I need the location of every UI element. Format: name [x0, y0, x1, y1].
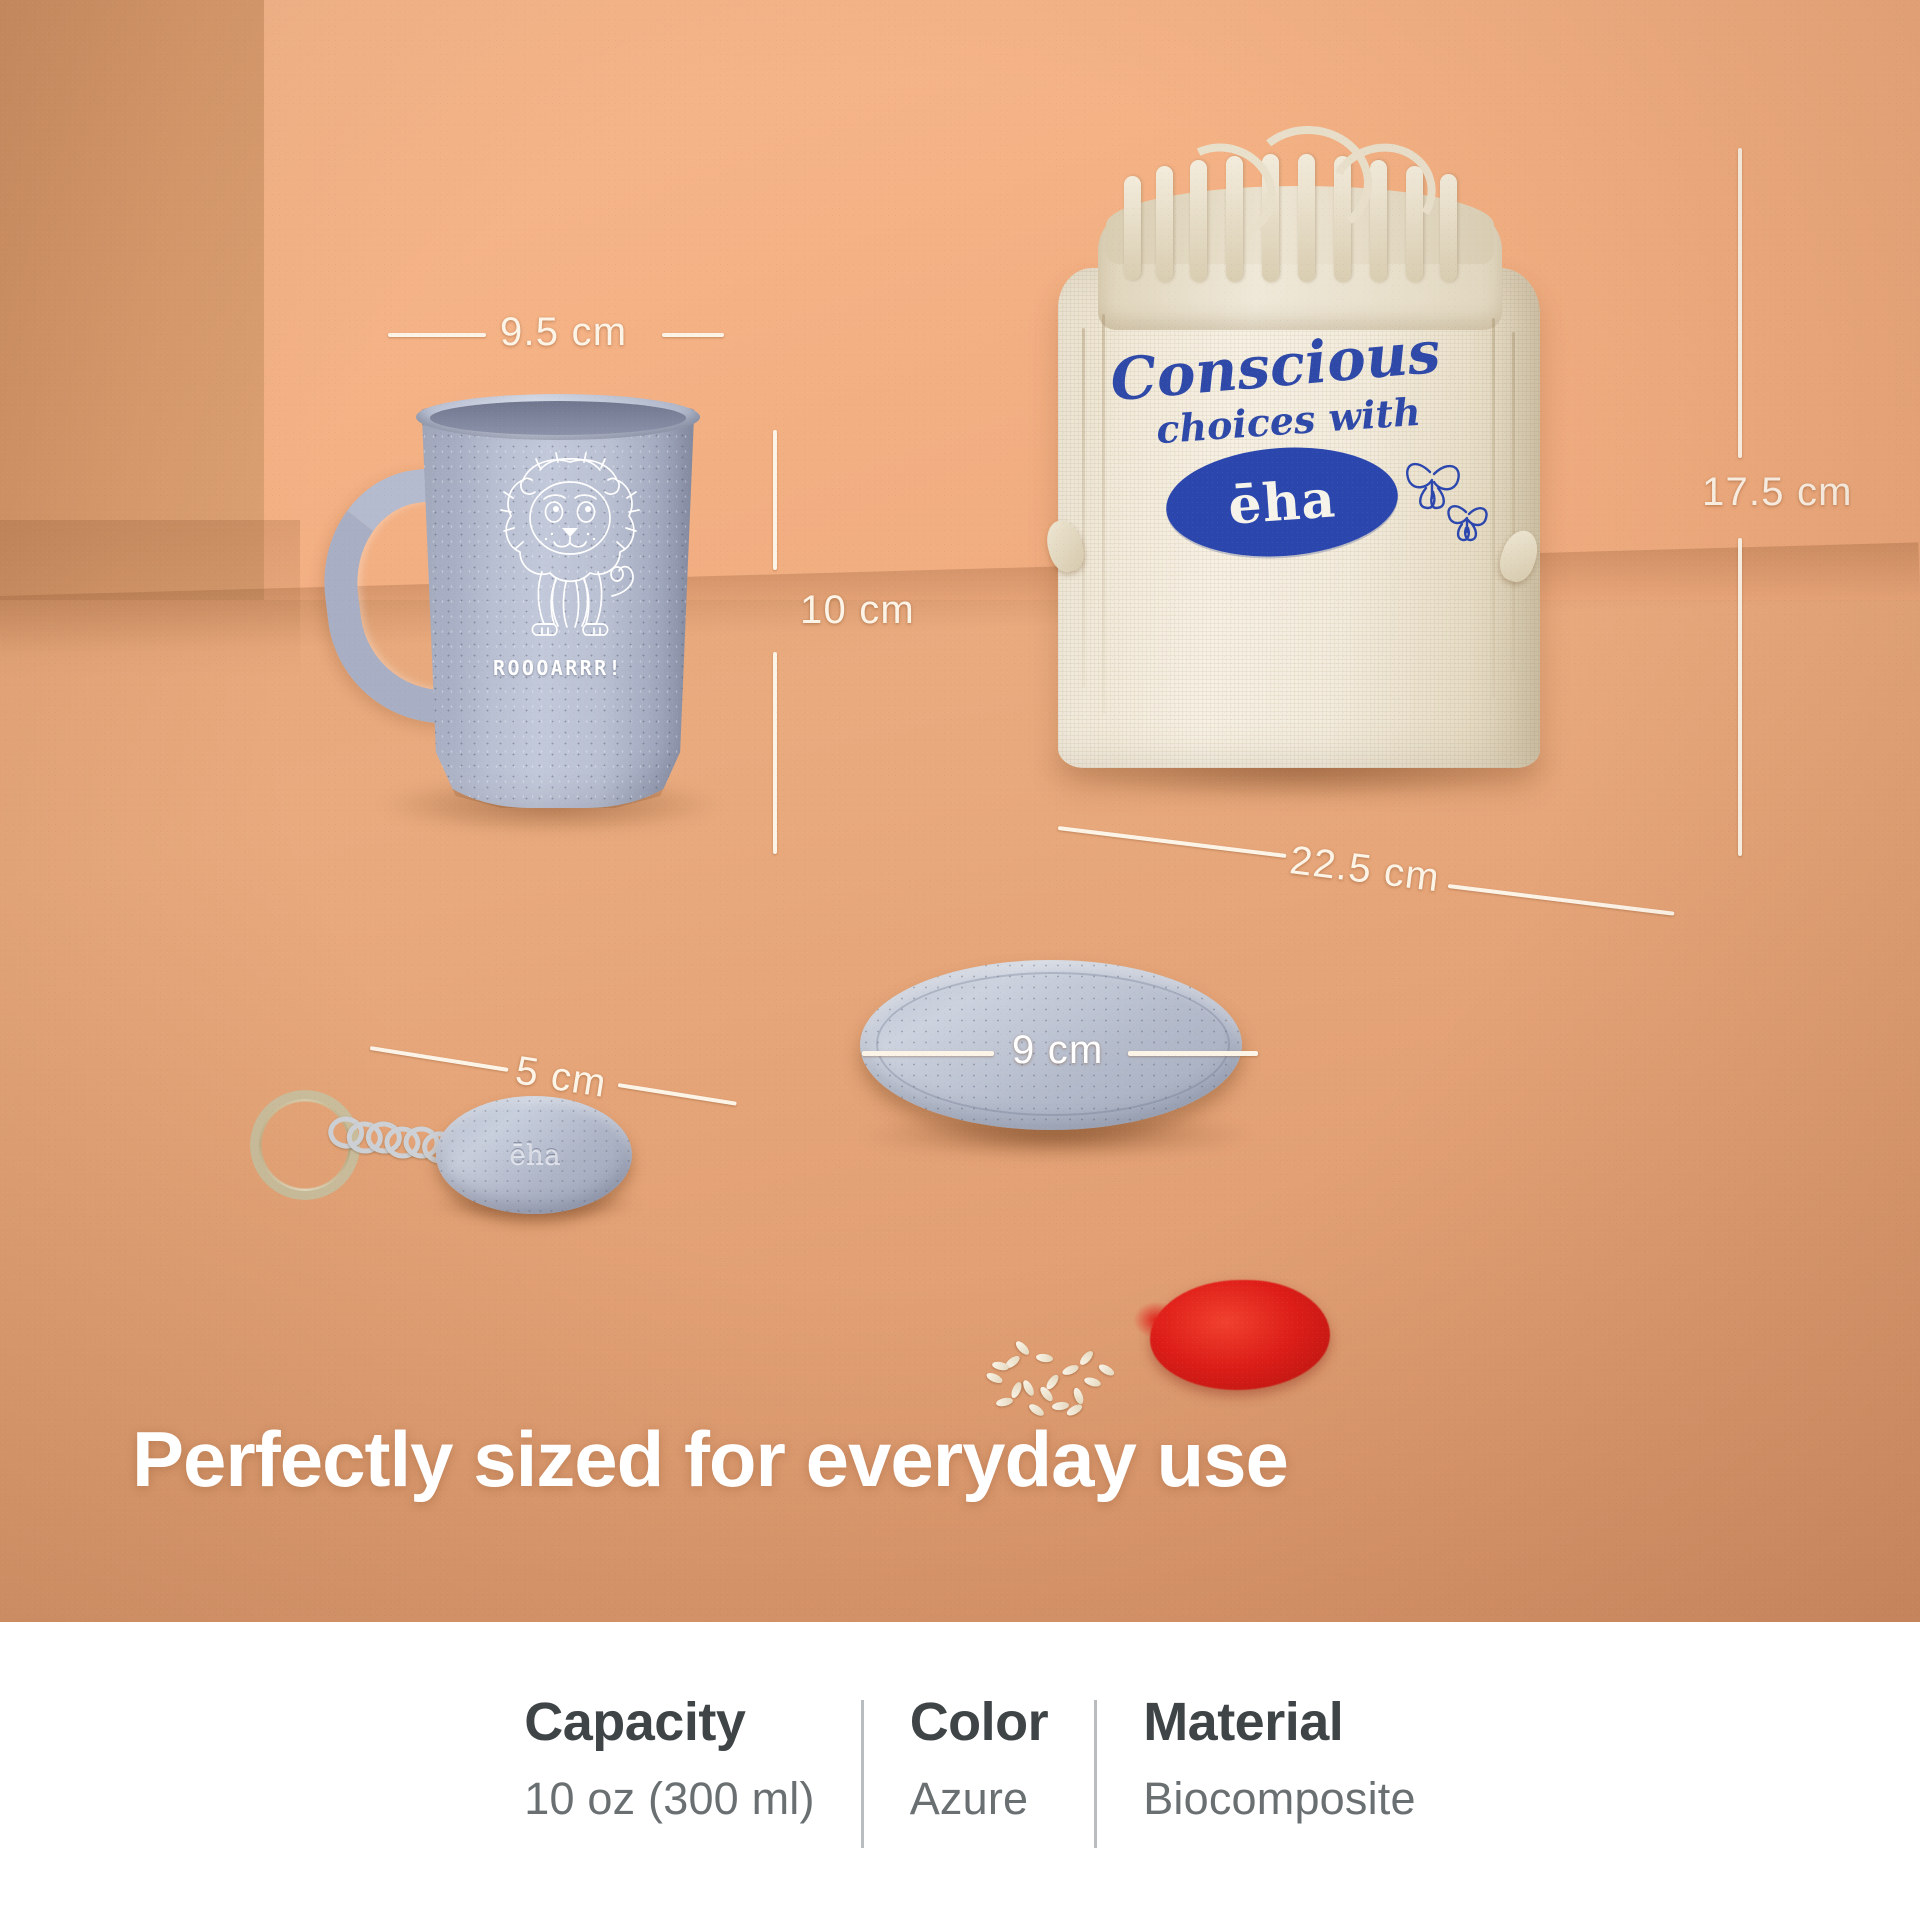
keychain-disc: ēha	[436, 1096, 632, 1214]
lion-cub-icon	[480, 446, 660, 646]
mug: ROOOARRR!	[360, 408, 710, 808]
red-pigment-powder	[1150, 1280, 1330, 1390]
dim-line-coaster-left	[862, 1051, 994, 1056]
spec-title-material: Material	[1143, 1694, 1416, 1751]
mug-interior	[430, 401, 686, 435]
spec-bar: Capacity 10 oz (300 ml) Color Azure Mate…	[0, 1622, 1920, 1920]
mug-slogan: ROOOARRR!	[416, 656, 700, 680]
spec-item-color: Color Azure	[864, 1694, 1095, 1825]
backdrop-corner-shade	[0, 520, 300, 680]
bag-fold	[1082, 328, 1085, 688]
spec-item-capacity: Capacity 10 oz (300 ml)	[478, 1694, 860, 1825]
bag-pleat	[1440, 174, 1457, 282]
spec-value-color: Azure	[910, 1773, 1049, 1825]
dim-label-mug-width: 9.5 cm	[500, 310, 627, 355]
bag-brand-text: ēha	[1163, 440, 1402, 564]
spec-title-capacity: Capacity	[524, 1694, 814, 1751]
dim-line-mug-height-top	[773, 430, 777, 570]
spec-item-material: Material Biocomposite	[1097, 1694, 1462, 1825]
bag-brand-oval: ēha	[1163, 440, 1402, 564]
bag-fold	[1512, 332, 1515, 672]
dim-line-coaster-right	[1128, 1051, 1258, 1056]
keychain-emboss-text: ēha	[480, 1130, 590, 1178]
dim-line-mug-width-left	[388, 333, 486, 337]
dim-label-bag-height: 17.5 cm	[1702, 470, 1853, 515]
dim-label-coaster: 9 cm	[1012, 1028, 1103, 1073]
product-infographic: ROOOARRR!	[0, 0, 1920, 1920]
spec-value-material: Biocomposite	[1143, 1773, 1416, 1825]
product-photo: ROOOARRR!	[0, 0, 1920, 1622]
dim-label-mug-height: 10 cm	[800, 588, 915, 633]
spec-title-color: Color	[910, 1694, 1049, 1751]
headline-text: Perfectly sized for everyday use	[132, 1414, 1832, 1505]
spec-list: Capacity 10 oz (300 ml) Color Azure Mate…	[458, 1694, 1461, 1848]
bag-print: Conscious choices with ēha	[1100, 336, 1504, 586]
drawstring-bag: Conscious choices with ēha	[1040, 118, 1560, 778]
dim-line-mug-width-right	[662, 333, 724, 337]
dim-line-bag-height-bottom	[1738, 538, 1742, 856]
dim-line-mug-height-bottom	[773, 652, 777, 854]
butterfly-icon	[1400, 446, 1496, 556]
spec-value-capacity: 10 oz (300 ml)	[524, 1773, 814, 1825]
dim-line-bag-height-top	[1738, 148, 1742, 458]
bag-pleat	[1124, 176, 1141, 280]
